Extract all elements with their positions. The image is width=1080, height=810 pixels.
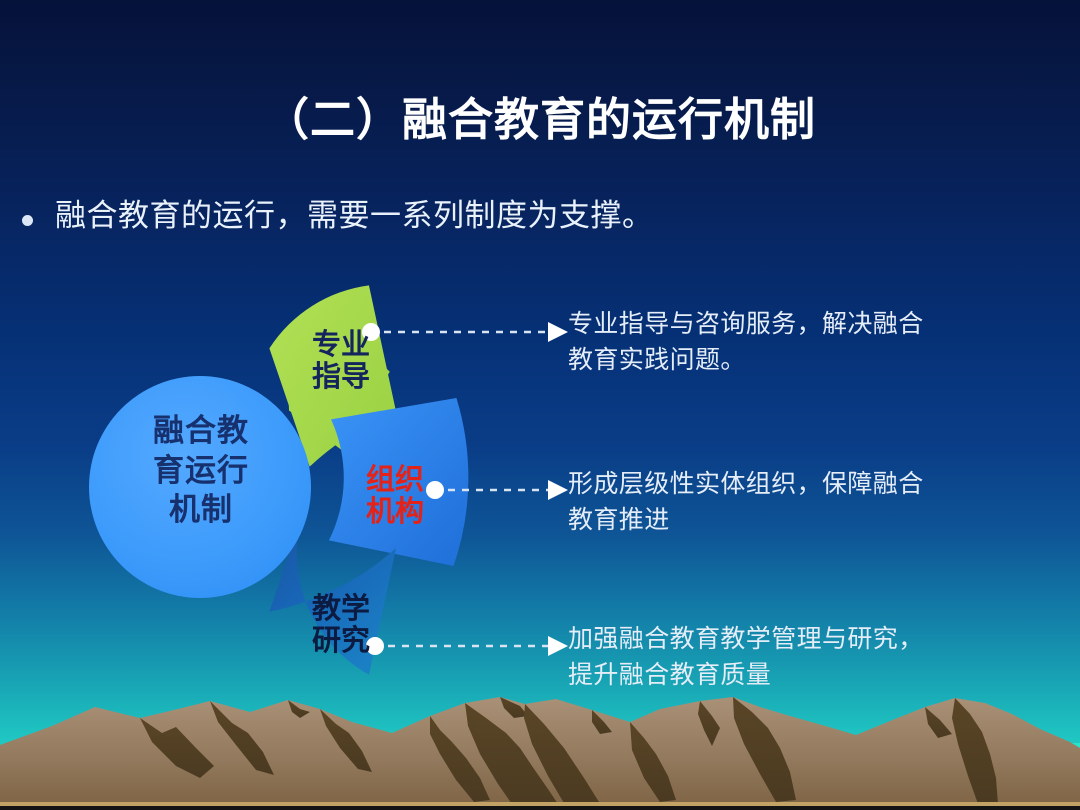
bottom-edge: [0, 806, 1080, 810]
wedge-label-teaching-research[interactable]: 教学 研究: [286, 592, 396, 657]
wedge-label-organization[interactable]: 组织 机构: [345, 463, 445, 528]
bullet-dot-icon: [22, 215, 33, 226]
page-title: （二）融合教育的运行机制: [0, 94, 1080, 146]
center-node-label: 融合教 育运行 机制: [118, 412, 284, 531]
description-organization: 形成层级性实体组织，保障融合 教育推进: [568, 466, 988, 539]
wedge-label-professional-guidance[interactable]: 专业 指导: [286, 328, 396, 393]
connector-arrow-2: [548, 480, 568, 500]
description-teaching-research: 加强融合教育教学管理与研究， 提升融合教育质量: [568, 621, 988, 694]
connector-arrow-3: [548, 636, 568, 656]
connector-arrow-1: [548, 322, 568, 342]
description-professional-guidance: 专业指导与咨询服务，解决融合 教育实践问题。: [568, 306, 988, 379]
bullet-row: 融合教育的运行，需要一系列制度为支撑。: [22, 196, 654, 236]
bullet-text: 融合教育的运行，需要一系列制度为支撑。: [55, 196, 654, 236]
presentation-slide: （二）融合教育的运行机制 融合教育的运行，需要一系列制度为支撑。 融合教 育运行…: [0, 0, 1080, 810]
connector-teaching-research: [366, 636, 568, 656]
